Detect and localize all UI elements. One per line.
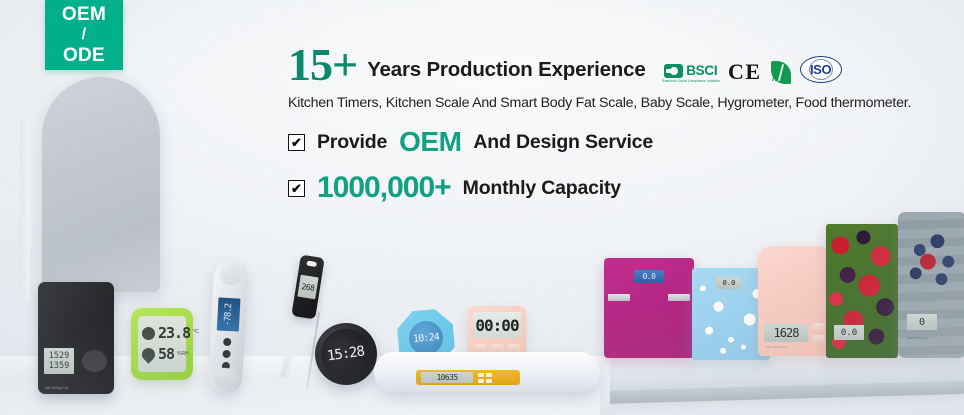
product-kitchen-scale-pink: 1628 Max 5000g/11 lb xyxy=(758,246,832,356)
checkmark-icon: ✔ xyxy=(288,180,305,197)
oem-ode-badge: OEM / ODE xyxy=(45,0,123,70)
kitchen-scale-black-brand: Max 5000g/11 lb xyxy=(45,386,68,390)
headline-row: 15+ Years Production Experience BSCI Bus… xyxy=(288,42,964,86)
display-line-2: 1359 xyxy=(49,361,69,371)
electrode-right xyxy=(668,294,690,301)
iso-label: ISO xyxy=(810,62,831,77)
probe-thermometer-display: 268 xyxy=(297,275,318,300)
feature-row-oem: ✔ Provide OEM And Design Service xyxy=(288,126,964,158)
globe-icon: ISO xyxy=(800,56,842,83)
badge-line-1: OEM xyxy=(62,4,106,25)
bsci-mark-icon xyxy=(664,64,683,78)
background-arch xyxy=(42,77,160,292)
hygrometer-temp-row: 23.8 °C xyxy=(142,326,182,341)
kitchen-scale-black-display: 1529 1359 xyxy=(44,348,74,374)
ce-label: CE xyxy=(728,61,762,83)
bsci-label: BSCI xyxy=(686,63,717,78)
product-kitchen-scale-wood: 0 Max 5000g/11 lb xyxy=(898,212,964,358)
pink-scale-button-2 xyxy=(812,335,825,344)
feature-row-capacity: ✔ 1000,000+ Monthly Capacity xyxy=(288,173,964,203)
baby-scale-display: 10635 xyxy=(421,372,473,383)
berry-scale-display: 0.0 xyxy=(834,325,864,340)
water-drop-icon xyxy=(139,346,157,364)
hygrometer-humidity: 58 xyxy=(158,347,174,362)
control-pad-icon xyxy=(82,350,107,372)
hygrometer-humidity-row: 58 %RH xyxy=(142,347,182,362)
blue-scale-display: 0.0 xyxy=(716,277,742,289)
product-kitchen-scale-berry: 0.0 xyxy=(826,224,898,358)
years-text: Years Production Experience xyxy=(367,58,645,86)
feature-capacity-suffix: Monthly Capacity xyxy=(463,177,621,200)
folding-thermometer-display: -78.2 xyxy=(217,297,241,331)
round-timer-display: 15:28 xyxy=(326,343,365,364)
hygrometer-temperature: 23.8 xyxy=(158,326,190,341)
octagon-timer-face: 10:24 xyxy=(408,320,445,357)
wood-scale-display: 0 xyxy=(907,314,937,330)
product-probe-thermometer: 268 xyxy=(291,255,324,320)
product-round-timer-black: 15:28 xyxy=(315,323,377,385)
rohs-logo: RoHS xyxy=(771,61,791,84)
magenta-scale-display: 0.0 xyxy=(634,270,664,283)
wood-scale-brand: Max 5000g/11 lb xyxy=(907,336,929,340)
hygrometer-humidity-unit: %RH xyxy=(177,352,189,358)
electrode-left xyxy=(608,294,630,301)
years-number: 15+ xyxy=(288,44,357,86)
display-line-1: 1529 xyxy=(49,351,69,361)
pink-scale-display: 1628 xyxy=(764,324,808,342)
baby-scale-buttons xyxy=(478,373,492,383)
pink-timer-display: 00:00 xyxy=(473,312,521,338)
badge-line-2: ODE xyxy=(63,45,105,66)
hygrometer-temp-unit: °C xyxy=(193,330,199,336)
product-list-text: Kitchen Timers, Kitchen Scale And Smart … xyxy=(288,95,964,111)
iso-logo: ISO xyxy=(800,56,842,83)
feature-capacity-highlight: 1000,000+ xyxy=(317,173,451,203)
bsci-sublabel: Business Social Compliance Initiative xyxy=(662,79,720,83)
badge-divider: / xyxy=(82,26,87,44)
promo-banner: OEM / ODE 15+ Years Production Experienc… xyxy=(0,0,964,415)
hang-hole-icon xyxy=(306,261,317,268)
thermometer-foot xyxy=(214,367,237,388)
bsci-logo: BSCI Business Social Compliance Initiati… xyxy=(663,63,720,83)
product-body-scale-magenta: 0.0 xyxy=(604,258,694,358)
product-folding-thermometer: -78.2 xyxy=(208,259,249,395)
checkmark-icon: ✔ xyxy=(288,134,305,151)
wall-edge xyxy=(20,120,30,300)
feature-oem-prefix: Provide xyxy=(317,131,387,154)
pink-scale-button-1 xyxy=(812,323,825,332)
baby-scale-panel: 10635 xyxy=(416,370,520,385)
pink-scale-brand: Max 5000g/11 lb xyxy=(766,345,788,349)
copy-block: 15+ Years Production Experience BSCI Bus… xyxy=(288,42,964,203)
smiley-face-icon xyxy=(142,327,155,340)
certification-logos: BSCI Business Social Compliance Initiati… xyxy=(663,56,842,86)
thermometer-cap xyxy=(219,265,242,286)
octagon-timer-display: 10:24 xyxy=(413,331,440,344)
product-kitchen-scale-black: 1529 1359 Max 5000g/11 lb xyxy=(38,282,114,394)
feature-oem-suffix: And Design Service xyxy=(473,131,653,154)
feature-oem-highlight: OEM xyxy=(399,126,461,158)
round-timer-face: 15:28 xyxy=(321,329,371,379)
ce-logo: CE xyxy=(728,61,762,83)
hygrometer-screen: 23.8 °C 58 %RH xyxy=(138,316,186,372)
product-hygrometer-green: 23.8 °C 58 %RH xyxy=(131,308,193,380)
